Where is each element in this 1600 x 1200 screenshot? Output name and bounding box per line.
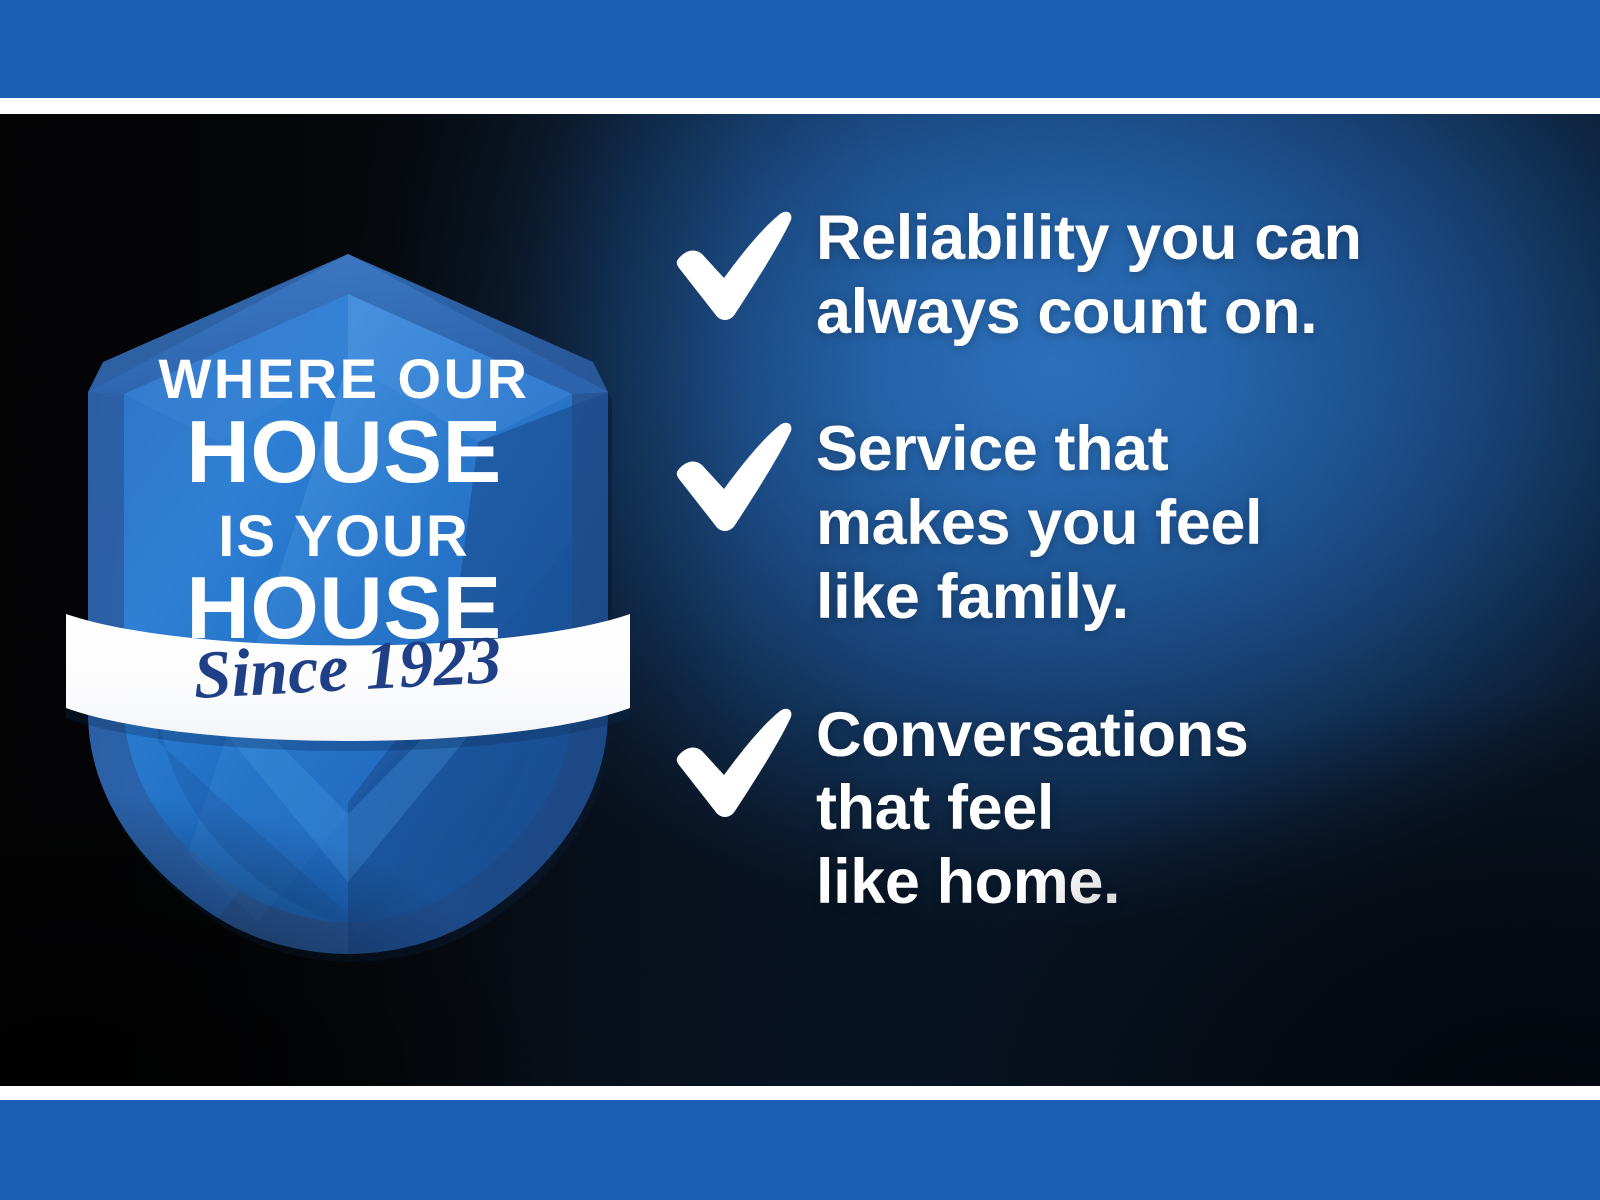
top-white-divider bbox=[0, 98, 1600, 114]
ribbon-text: Since 1923 bbox=[191, 621, 502, 713]
list-item: Reliability you can always count on. bbox=[668, 202, 1498, 349]
check-icon bbox=[668, 703, 794, 821]
check-icon bbox=[668, 206, 794, 324]
content-stage: WHERE OUR HOUSE IS YOUR HOUSE Since 1923… bbox=[0, 114, 1600, 1086]
bottom-brand-bar bbox=[0, 1100, 1600, 1200]
list-item-text: Service that makes you feel like family. bbox=[816, 413, 1262, 634]
benefits-list: Reliability you can always count on. Ser… bbox=[668, 202, 1498, 920]
list-item-text: Reliability you can always count on. bbox=[816, 202, 1362, 349]
shield-line-1: WHERE OUR bbox=[159, 347, 530, 410]
list-item: Service that makes you feel like family. bbox=[668, 413, 1498, 634]
shield-emblem: WHERE OUR HOUSE IS YOUR HOUSE Since 1923 bbox=[48, 242, 648, 962]
bottom-white-divider bbox=[0, 1086, 1600, 1100]
top-brand-bar bbox=[0, 0, 1600, 98]
promo-graphic: WHERE OUR HOUSE IS YOUR HOUSE Since 1923… bbox=[0, 0, 1600, 1200]
list-item-text: Conversations that feel like home. bbox=[816, 699, 1248, 920]
check-icon bbox=[668, 417, 794, 535]
shield-line-2: HOUSE bbox=[186, 402, 501, 501]
list-item: Conversations that feel like home. bbox=[668, 699, 1498, 920]
